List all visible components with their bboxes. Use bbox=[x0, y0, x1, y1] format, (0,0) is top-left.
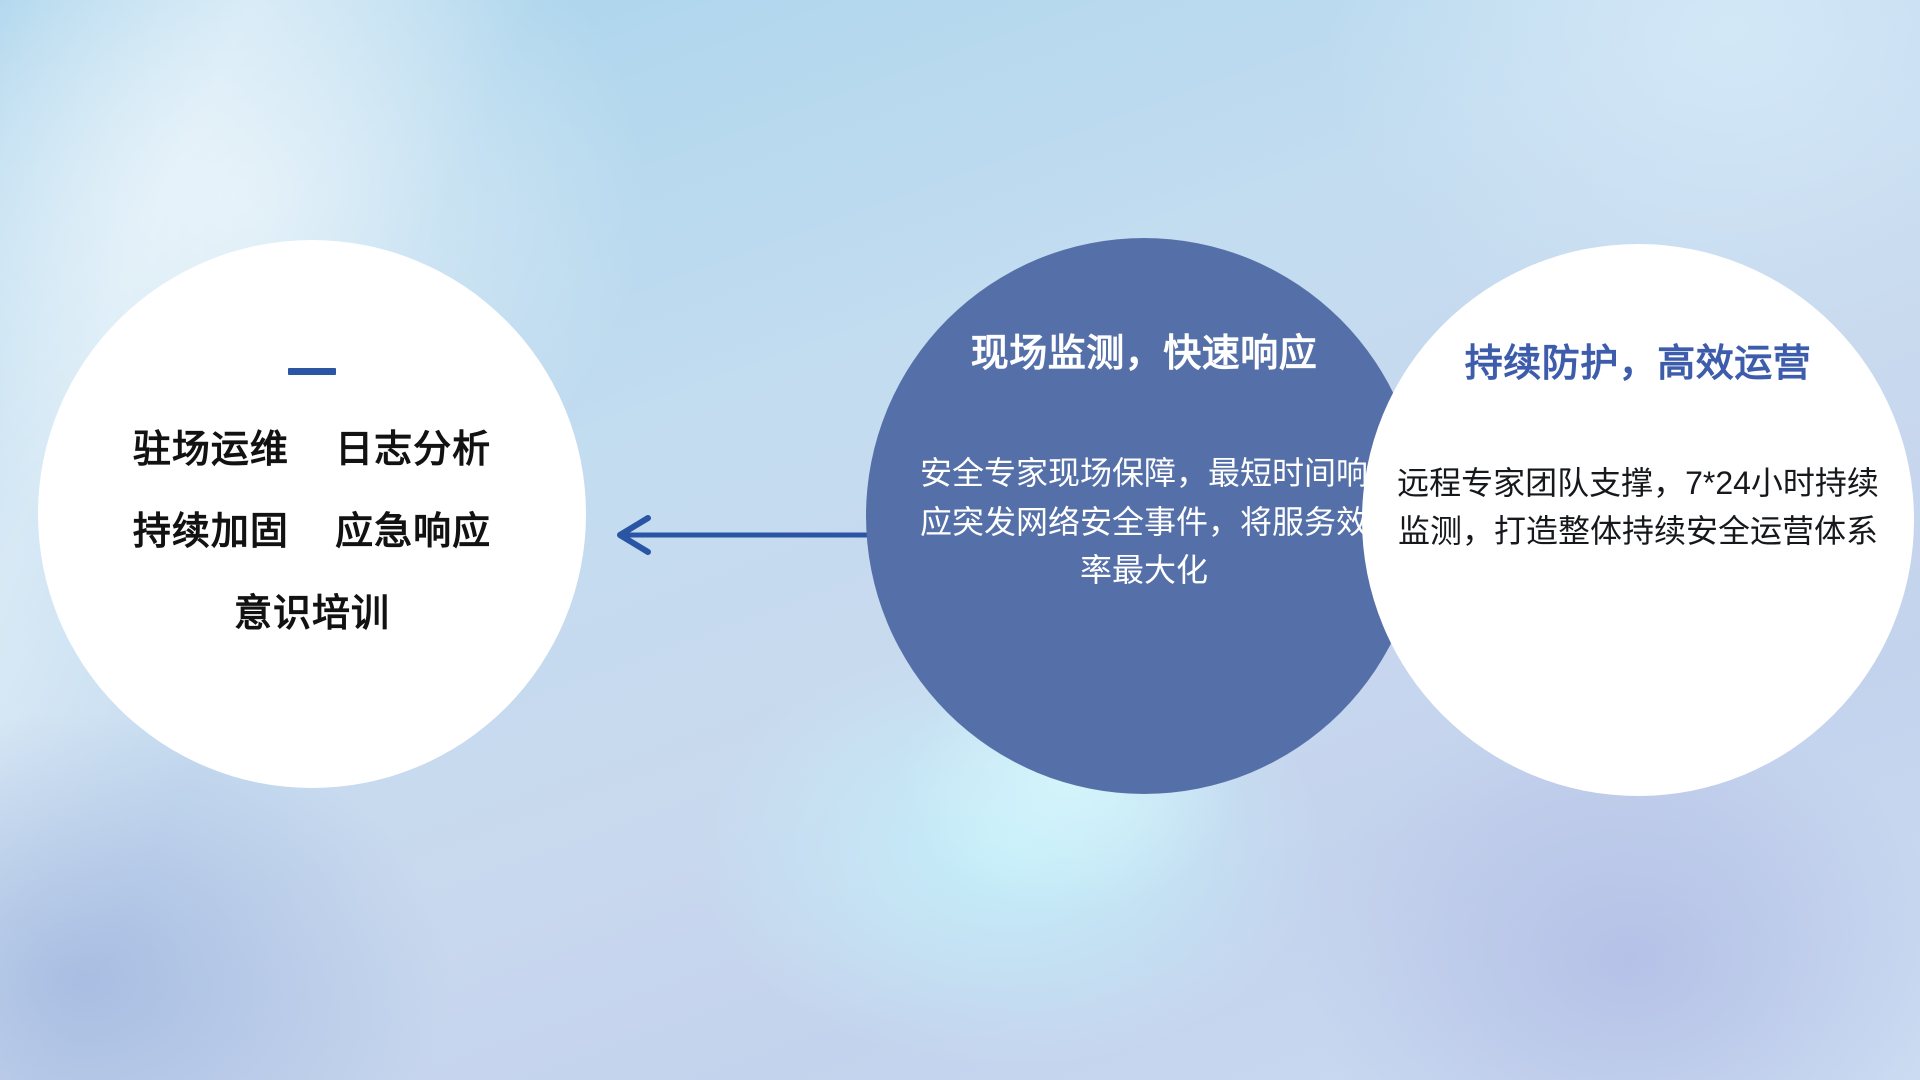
right-circle-title: 持续防护，高效运营 bbox=[1396, 332, 1880, 387]
capability-line-1: 驻场运维 日志分析 bbox=[74, 431, 550, 469]
capability-circle-left-content: 驻场运维 日志分析 持续加固 应急响应 意识培训 bbox=[38, 368, 586, 633]
capability-circle-right: 持续防护，高效运营 远程专家团队支撑，7*24小时持续监测，打造整体持续安全运营… bbox=[1362, 244, 1914, 796]
middle-circle-body: 安全专家现场保障，最短时间响应突发网络安全事件，将服务效率最大化 bbox=[910, 449, 1378, 595]
capability-circle-right-content: 持续防护，高效运营 远程专家团队支撑，7*24小时持续监测，打造整体持续安全运营… bbox=[1362, 332, 1914, 555]
right-circle-body: 远程专家团队支撑，7*24小时持续监测，打造整体持续安全运营体系 bbox=[1396, 459, 1880, 555]
capability-line-3: 意识培训 bbox=[74, 595, 550, 633]
capability-circle-middle-content: 现场监测，快速响应 安全专家现场保障，最短时间响应突发网络安全事件，将服务效率最… bbox=[866, 322, 1422, 595]
capability-circle-middle: 现场监测，快速响应 安全专家现场保障，最短时间响应突发网络安全事件，将服务效率最… bbox=[866, 238, 1422, 794]
arrow-left-icon bbox=[600, 505, 900, 565]
middle-circle-title: 现场监测，快速响应 bbox=[910, 322, 1378, 377]
slide-canvas: 驻场运维 日志分析 持续加固 应急响应 意识培训 现场监测，快速响应 安全专家现… bbox=[0, 0, 1920, 1080]
capability-line-2: 持续加固 应急响应 bbox=[74, 513, 550, 551]
connector-arrow bbox=[600, 505, 900, 565]
capability-circle-left: 驻场运维 日志分析 持续加固 应急响应 意识培训 bbox=[38, 240, 586, 788]
divider-dash bbox=[288, 368, 336, 375]
